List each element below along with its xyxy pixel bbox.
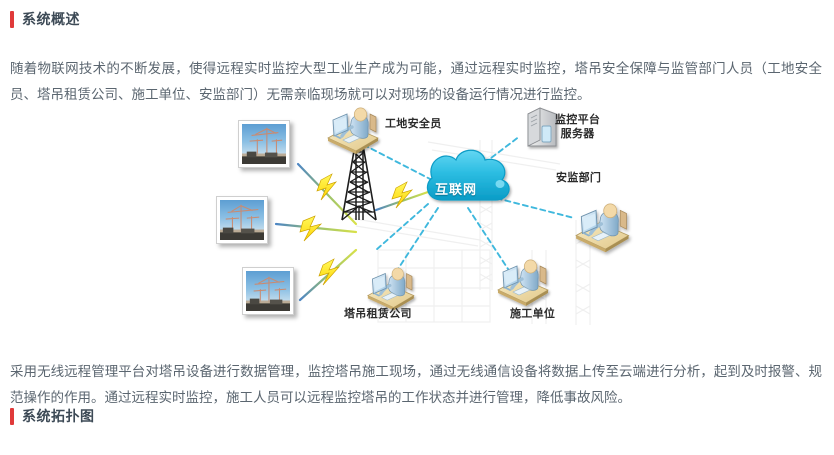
internet-cloud-icon [427, 150, 509, 200]
summary-paragraph: 采用无线远程管理平台对塔吊设备进行数据管理，监控塔吊施工现场，通过无线通信设备将… [10, 359, 822, 411]
crane-photo-image [242, 124, 286, 164]
system-topology-diagram: 互联网 工地安全员 监控平台 服务器 安监部门 塔吊租赁公司 施工单位 [180, 100, 660, 330]
node-icon-construction-unit [498, 260, 548, 306]
heading-accent-bar [10, 408, 14, 425]
node-label-construction-unit: 施工单位 [510, 307, 555, 321]
node-icon-safety-officer [328, 108, 378, 154]
node-label-rental-company: 塔吊租赁公司 [344, 307, 412, 321]
site-photo-thumbnail [238, 120, 290, 168]
site-photo-thumbnail [242, 267, 294, 315]
topology-title: 系统拓扑图 [22, 408, 95, 425]
heading-accent-bar [10, 11, 14, 28]
crane-photo-image [220, 200, 264, 240]
section-heading-overview: 系统概述 [0, 9, 80, 29]
node-label-safety-bureau: 安监部门 [556, 171, 601, 185]
node-icon-safety-bureau [576, 204, 629, 252]
page-title: 系统概述 [22, 11, 80, 28]
section-heading-topology: 系统拓扑图 [0, 406, 95, 426]
server-icon [528, 108, 556, 146]
node-label-server: 监控平台 服务器 [555, 113, 600, 141]
node-label-safety-officer: 工地安全员 [385, 117, 442, 131]
site-photo-thumbnail [216, 196, 268, 244]
page-root: 系统概述 随着物联网技术的不断发展，使得远程实时监控大型工业生产成为可能，通过远… [0, 0, 834, 455]
node-label-server-line2: 服务器 [555, 127, 600, 141]
node-label-server-line1: 监控平台 [555, 113, 600, 127]
crane-photo-image [246, 271, 290, 311]
node-icon-rental-company [368, 268, 414, 310]
